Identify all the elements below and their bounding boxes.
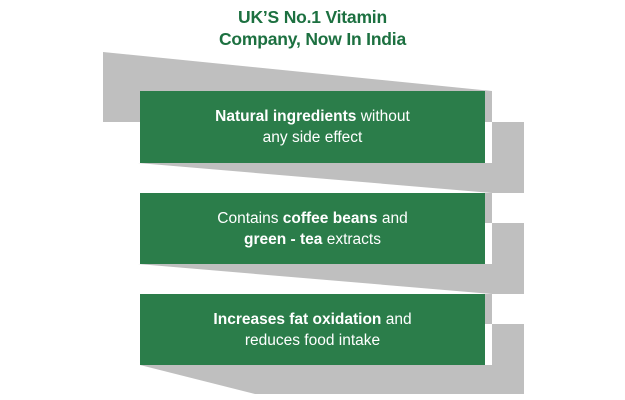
fact-1-bold-phrase: Natural ingredients — [215, 108, 356, 125]
fact-2-line1-post: and — [378, 210, 408, 227]
fact-3-line1-rest: and — [381, 311, 411, 328]
headline: UK’S No.1 Vitamin Company, Now In India — [0, 6, 625, 50]
fact-2-bold-phrase-1: coffee beans — [283, 210, 378, 227]
fact-box-natural-ingredients[interactable]: Natural ingredients without any side eff… — [140, 91, 485, 163]
fact-2-line2-post: extracts — [322, 231, 381, 248]
fact-2-line1-pre: Contains — [217, 210, 282, 227]
fact-1-line2: any side effect — [263, 129, 363, 146]
infographic-canvas: UK’S No.1 Vitamin Company, Now In India … — [0, 0, 625, 400]
headline-line-1: UK’S No.1 Vitamin — [0, 6, 625, 28]
fact-3-line2: reduces food intake — [245, 332, 380, 349]
fact-box-fat-oxidation[interactable]: Increases fat oxidation and reduces food… — [140, 294, 485, 365]
fact-text-coffee-green-tea: Contains coffee beans and green - tea ex… — [217, 208, 407, 250]
fact-text-natural-ingredients: Natural ingredients without any side eff… — [215, 106, 410, 148]
fact-text-fat-oxidation: Increases fat oxidation and reduces food… — [213, 309, 411, 351]
headline-line-2: Company, Now In India — [0, 28, 625, 50]
fact-boxes: Natural ingredients without any side eff… — [0, 0, 625, 400]
fact-box-coffee-green-tea[interactable]: Contains coffee beans and green - tea ex… — [140, 193, 485, 264]
fact-1-line1-rest: without — [356, 108, 409, 125]
fact-3-bold-phrase: Increases fat oxidation — [213, 311, 381, 328]
fact-2-bold-phrase-2: green - tea — [244, 231, 322, 248]
